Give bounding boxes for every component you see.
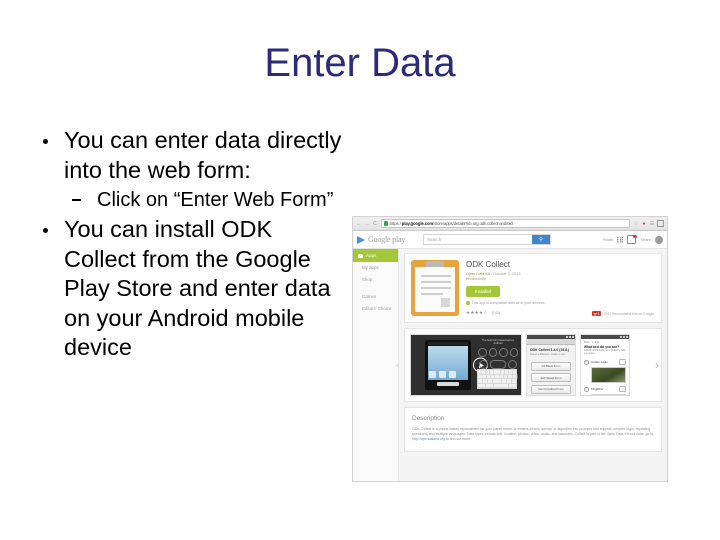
- carousel-prev-icon[interactable]: ‹: [396, 361, 399, 369]
- option-badge: [619, 386, 626, 392]
- back-icon[interactable]: ←: [356, 221, 362, 227]
- logo-text: Google play: [368, 235, 405, 244]
- slide: Enter Data You can enter data directly i…: [0, 0, 720, 540]
- search-icon[interactable]: ⚲: [532, 235, 550, 244]
- lock-icon: [384, 221, 388, 226]
- keyboard-graphic: [477, 369, 517, 389]
- bullet-list: You can enter data directly into the web…: [34, 126, 346, 363]
- bullet-dot-icon: [43, 228, 48, 233]
- notifications-icon[interactable]: [627, 235, 636, 244]
- play-main-content: ODK Collect Open Data Kit - October 3, 2…: [399, 249, 667, 481]
- menu-button-fill-blank-form[interactable]: Fill Blank Form: [531, 362, 571, 371]
- video-caption: The best form based tool on Android: [478, 339, 518, 345]
- browser-chrome-actions: ☆ ● ☰: [633, 220, 664, 227]
- compatibility-text: This app is compatible with all of your …: [472, 301, 546, 305]
- google-plus-recommend-button[interactable]: g+1 +247 Recommend this on Google: [592, 311, 654, 316]
- sidebar-item-my-apps[interactable]: My apps: [353, 262, 398, 274]
- option-label: Kingfisher: [591, 387, 603, 391]
- menu-button-send-finalized-form[interactable]: Send Finalized Form: [531, 385, 571, 394]
- clipboard-paper: [415, 267, 455, 312]
- app-detail-card: ODK Collect Open Data Kit - October 3, 2…: [404, 253, 662, 323]
- menu-title: ODK Collect 1.4.0 (1011): [527, 345, 575, 352]
- url-text: https / play.google.com/store/apps/detai…: [390, 221, 513, 226]
- radio-icon[interactable]: [584, 360, 589, 365]
- description-section: Description ODK Collect is a phone-based…: [404, 407, 662, 452]
- sidebar-item-label: My apps: [362, 265, 379, 270]
- app-category: Productivity: [466, 277, 655, 281]
- list-item: You can install ODK Collect from the Goo…: [34, 215, 346, 363]
- star-rating-icon: ★★★★☆: [466, 310, 488, 316]
- sidebar-item-label: Shop: [362, 277, 372, 282]
- clipboard-fold: [441, 298, 450, 307]
- sidebar-item-editors-choice[interactable]: Editors' Choice: [353, 302, 398, 314]
- sidebar-item-label: Apps: [366, 253, 376, 258]
- option-image-golden-eagle: [591, 367, 626, 383]
- share-button[interactable]: Share: [640, 237, 651, 242]
- apps-grid-icon[interactable]: [617, 237, 623, 243]
- android-icon: [358, 254, 363, 258]
- sub-bullet-list: Click on “Enter Web Form”: [64, 187, 346, 213]
- reload-icon[interactable]: C: [372, 221, 378, 227]
- play-triangle-icon: [357, 236, 365, 244]
- gplus-badge: g+1: [592, 311, 601, 316]
- sidebar-item-apps[interactable]: Apps: [353, 249, 398, 262]
- list-item: You can enter data directly into the web…: [34, 126, 346, 213]
- sidebar-item-label: Games: [362, 294, 376, 299]
- check-icon: [466, 301, 470, 305]
- bullet-dot-icon: [43, 139, 48, 144]
- browser-chrome: ← → C https / play.google.com/store/apps…: [353, 217, 667, 231]
- sidebar-item-shop[interactable]: Shop: [353, 274, 398, 286]
- header-actions: +Mark Share: [597, 235, 663, 244]
- bookmark-star-icon[interactable]: ☆: [633, 221, 639, 227]
- option-badge: [619, 359, 626, 365]
- menu-icon[interactable]: ☰: [649, 221, 655, 227]
- sub-bullet-text: Click on “Enter Web Form”: [97, 189, 333, 211]
- rating-count[interactable]: (140): [492, 311, 500, 315]
- search-input[interactable]: Search ⚲: [423, 234, 551, 245]
- play-store-body: Apps My apps Shop Games Editors' Choice: [353, 249, 667, 481]
- list-item: Click on “Enter Web Form”: [64, 187, 346, 213]
- play-sidebar: Apps My apps Shop Games Editors' Choice: [353, 249, 399, 481]
- window-icon[interactable]: [657, 220, 664, 227]
- phone-mockup: [425, 340, 471, 390]
- form-help-text: A photo and a name are included to help …: [581, 350, 629, 358]
- form-option-golden-eagle[interactable]: Golden eagle: [581, 358, 629, 366]
- avatar[interactable]: [655, 236, 663, 244]
- app-screenshot-menu[interactable]: ODK Collect 1.4.0 (1011) Select a differ…: [526, 334, 576, 396]
- google-play-screenshot-image: ← → C https / play.google.com/store/apps…: [352, 216, 668, 482]
- menu-button-edit-saved-form[interactable]: Edit Saved Form: [531, 373, 571, 382]
- description-body: ODK Collect is a phone-based replacement…: [412, 427, 654, 443]
- app-developer-date: Open Data Kit - October 3, 2013: [466, 272, 655, 276]
- description-heading: Description: [412, 414, 654, 423]
- search-placeholder: Search: [424, 237, 532, 242]
- form-option-kingfisher[interactable]: Kingfisher: [581, 385, 629, 393]
- option-label: Golden eagle: [591, 360, 608, 364]
- sidebar-item-label: Editors' Choice: [362, 306, 391, 311]
- google-play-logo[interactable]: Google play: [357, 235, 423, 244]
- forward-icon[interactable]: →: [364, 221, 370, 227]
- app-info: ODK Collect Open Data Kit - October 3, 2…: [466, 260, 655, 316]
- video-caption-area: The best form based tool on Android: [478, 339, 518, 391]
- menu-subtitle: Select a different / create a new...: [527, 352, 575, 359]
- clipboard-icon: [411, 260, 459, 316]
- slide-body: You can enter data directly into the web…: [34, 126, 346, 364]
- extension-icon[interactable]: ●: [641, 221, 647, 227]
- radio-icon[interactable]: [584, 387, 589, 392]
- address-bar[interactable]: https / play.google.com/store/apps/detai…: [381, 219, 630, 228]
- opendatakit-link[interactable]: http://opendatakit.org: [412, 437, 445, 441]
- installed-button[interactable]: Installed: [466, 286, 500, 297]
- compatibility-note: This app is compatible with all of your …: [466, 301, 655, 305]
- option-image-kingfisher: [591, 394, 626, 396]
- app-name: ODK Collect: [466, 260, 655, 270]
- bullet-dash-icon: [72, 199, 81, 201]
- play-store-header: Google play Search ⚲ +Mark Share: [353, 231, 667, 249]
- screenshot-carousel: ‹ The best form based tool on Android: [404, 328, 662, 402]
- page-title: Enter Data: [0, 40, 720, 86]
- bullet-text: You can install ODK Collect from the Goo…: [64, 216, 331, 360]
- app-screenshot-form[interactable]: Birds :: 1 of 12 What bird did you see? …: [580, 334, 630, 396]
- carousel-next-icon[interactable]: ›: [655, 360, 659, 370]
- bullet-text: You can enter data directly into the web…: [64, 127, 341, 183]
- video-thumbnail[interactable]: The best form based tool on Android: [410, 334, 522, 396]
- mark-button[interactable]: +Mark: [602, 237, 613, 242]
- sidebar-item-games[interactable]: Games: [353, 291, 398, 303]
- gplus-text: +247 Recommend this on Google: [603, 312, 654, 316]
